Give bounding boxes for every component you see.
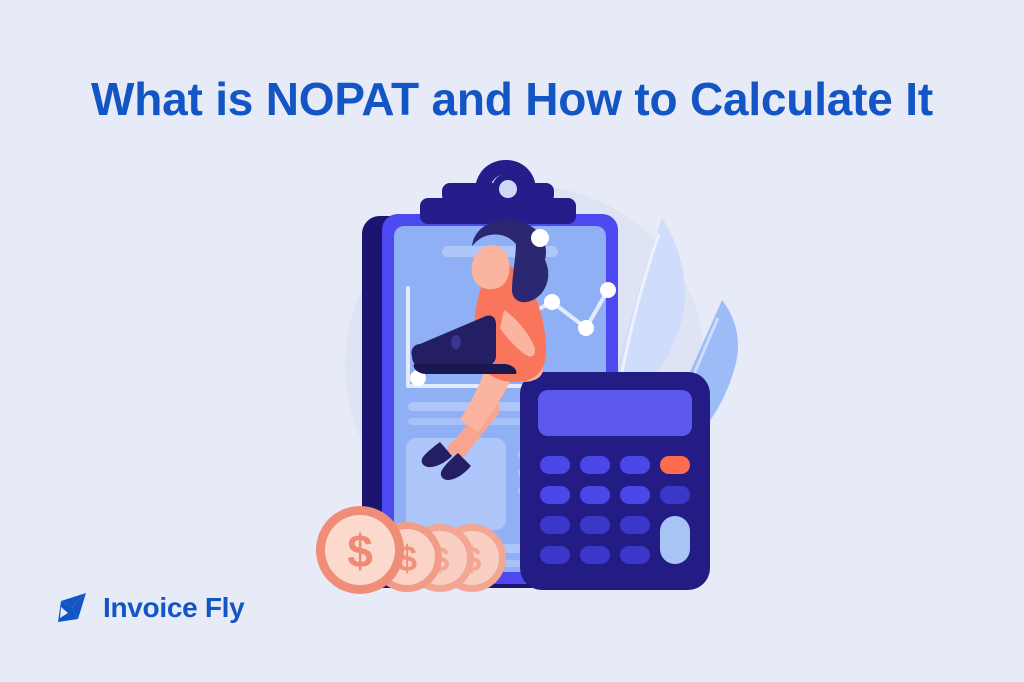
calculator-screen: [538, 390, 692, 436]
calculator-key: [540, 546, 570, 564]
laptop-base: [414, 364, 517, 374]
chart-dot: [578, 320, 594, 336]
page-title: What is NOPAT and How to Calculate It: [0, 71, 1024, 127]
calculator-key: [580, 546, 610, 564]
calculator-key: [580, 486, 610, 504]
calculator-key: [580, 516, 610, 534]
banner-root: What is NOPAT and How to Calculate It: [0, 0, 1024, 682]
hero-illustration: $ $ $ $: [290, 150, 750, 610]
brand-name: Invoice Fly: [103, 593, 244, 623]
calculator-key: [660, 486, 690, 504]
hair-highlight-dot: [531, 229, 549, 247]
laptop-logo-icon: [451, 335, 461, 349]
calculator-key: [620, 456, 650, 474]
calculator-key-accent: [660, 456, 690, 474]
chart-dot: [600, 282, 616, 298]
clip-ring-hole: [499, 180, 517, 198]
clipboard-clip-icon: [420, 160, 576, 224]
paper-plane-icon: [52, 588, 92, 628]
calculator-key-equals: [660, 516, 690, 564]
coin-front: $: [316, 506, 404, 594]
illustration-svg: $ $ $ $: [290, 150, 750, 610]
calculator-key: [540, 486, 570, 504]
calculator: [520, 372, 710, 590]
svg-text:$: $: [347, 525, 373, 577]
chart-dot: [544, 294, 560, 310]
calculator-key: [540, 456, 570, 474]
calculator-key: [580, 456, 610, 474]
brand-logo[interactable]: Invoice Fly: [52, 588, 244, 628]
calculator-key: [540, 516, 570, 534]
calculator-key: [620, 486, 650, 504]
calculator-key: [620, 546, 650, 564]
calculator-key: [620, 516, 650, 534]
